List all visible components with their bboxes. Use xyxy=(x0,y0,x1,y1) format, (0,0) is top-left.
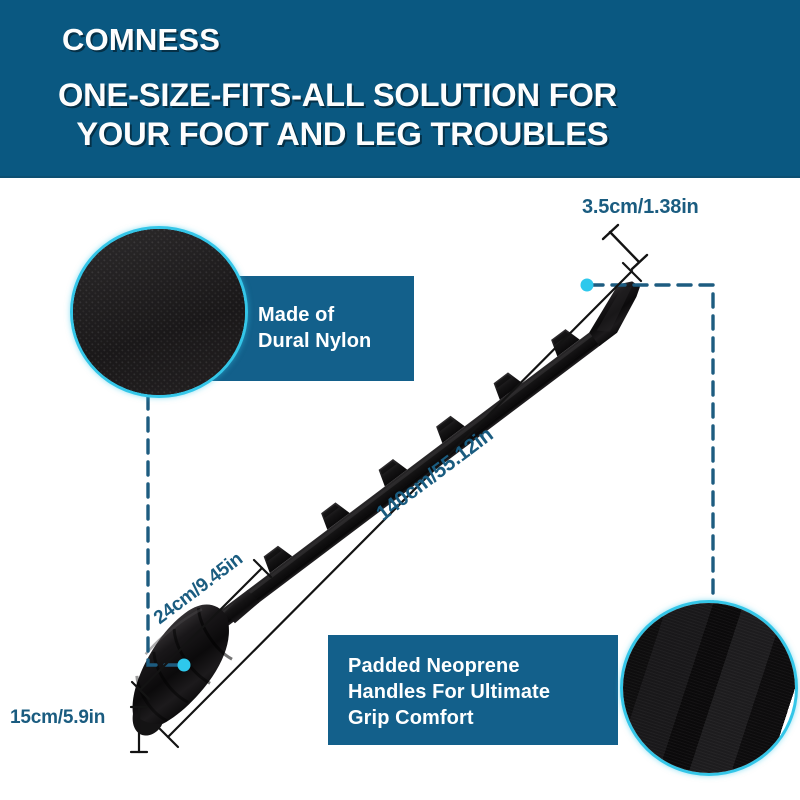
neoprene-strap-texture xyxy=(620,600,798,776)
anchor-dot-handle xyxy=(178,659,191,672)
inset-circle-neoprene-handle xyxy=(620,600,798,776)
nylon-weave-texture xyxy=(73,229,245,395)
caliper-width-top xyxy=(603,225,647,269)
inset-circle-nylon-fabric xyxy=(70,226,248,398)
dimension-label-handle-width: 15cm/5.9in xyxy=(10,707,105,729)
infographic-canvas: COMNESS ONE-SIZE-FITS-ALL SOLUTION FOR Y… xyxy=(0,0,800,800)
anchor-dot-top xyxy=(581,279,594,292)
dimension-label-width-top: 3.5cm/1.38in xyxy=(582,196,699,219)
